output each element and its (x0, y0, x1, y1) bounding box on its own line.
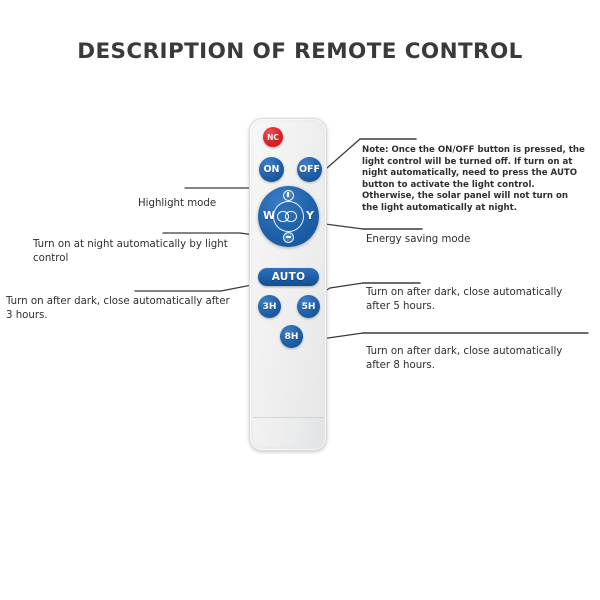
warm-cool-toggle-icon[interactable] (273, 201, 304, 232)
button-on[interactable]: ON (259, 157, 284, 182)
brightness-up-icon[interactable] (283, 190, 294, 201)
dial-label-yellow: Y (306, 209, 314, 222)
callout-timer-8h: Turn on after dark, close automatically … (366, 345, 576, 372)
brightness-down-icon[interactable] (283, 232, 294, 243)
callout-note: Note: Once the ON/OFF button is pressed,… (362, 145, 587, 215)
button-timer-3h[interactable]: 3H (258, 295, 281, 318)
diagram-canvas: DESCRIPTION OF REMOTE CONTROL (0, 0, 600, 600)
callout-highlight-mode: Highlight mode (138, 197, 248, 211)
callout-timer-3h: Turn on after dark, close automatically … (6, 295, 231, 322)
callout-energy-saving: Energy saving mode (366, 233, 546, 247)
button-off[interactable]: OFF (297, 157, 322, 182)
ring-glyph-right-icon (285, 211, 297, 223)
color-temperature-dial[interactable]: W Y (258, 186, 319, 247)
button-timer-5h[interactable]: 5H (297, 295, 320, 318)
callout-light-control: Turn on at night automatically by light … (33, 238, 233, 265)
button-timer-8h[interactable]: 8H (280, 325, 303, 348)
callout-timer-5h: Turn on after dark, close automatically … (366, 286, 566, 313)
battery-cover (253, 418, 323, 447)
button-nc[interactable]: NC (263, 127, 283, 147)
button-auto[interactable]: AUTO (258, 268, 319, 286)
